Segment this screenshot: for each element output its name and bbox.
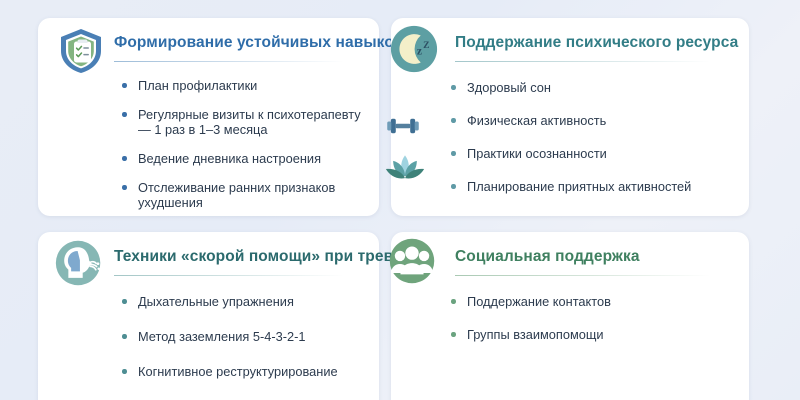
list-item-label: Поддержание контактов <box>467 294 611 309</box>
moon-sleep-icon: z Z <box>389 24 441 76</box>
card-title: Техники «скорой помощи» при тревоге <box>114 248 418 266</box>
list-item-label: Планирование приятных активностей <box>467 179 691 194</box>
head-breathing-icon <box>54 238 108 292</box>
list-item-label: План профилактики <box>138 78 257 93</box>
list-item-label: Дыхательные упражнения <box>138 294 294 309</box>
bullet-dot <box>451 332 456 337</box>
dumbbell-icon <box>385 111 421 141</box>
card-social-support[interactable]: Социальная поддержка Поддержание контакт… <box>391 232 749 400</box>
bullet-list: План профилактики Регулярные визиты к пс… <box>122 78 365 224</box>
list-item: Дыхательные упражнения <box>122 294 365 309</box>
card-skills[interactable]: Формирование устойчивых навыков План про… <box>38 18 379 216</box>
bullet-dot <box>122 83 127 88</box>
card-title: Социальная поддержка <box>455 248 640 266</box>
people-group-icon <box>387 236 441 290</box>
card-header: z Z Поддержание психического ресурса <box>391 18 749 74</box>
card-mental-resource[interactable]: z Z Поддержание психического ресурса <box>391 18 749 216</box>
card-emergency-techniques[interactable]: Техники «скорой помощи» при тревоге Дыха… <box>38 232 379 400</box>
card-title: Поддержание психического ресурса <box>455 34 738 52</box>
list-item-label: Группы взаимопомощи <box>467 327 604 342</box>
list-item-label: Ведение дневника настроения <box>138 151 321 166</box>
title-divider <box>455 61 710 62</box>
list-item: Регулярные визиты к психотерапевту — 1 р… <box>122 107 365 137</box>
list-item: План профилактики <box>122 78 365 93</box>
title-divider <box>114 61 344 62</box>
card-header: Техники «скорой помощи» при тревоге <box>38 232 379 288</box>
list-item: Практики осознанности <box>451 146 735 161</box>
bullet-dot <box>451 184 456 189</box>
bullet-dot <box>122 299 127 304</box>
bullet-list: Дыхательные упражнения Метод заземления … <box>122 294 365 399</box>
list-item: Поддержание контактов <box>451 294 735 309</box>
title-divider <box>455 275 710 276</box>
bullet-dot <box>451 85 456 90</box>
list-item-label: Отслеживание ранних признаков ухудшения <box>138 180 335 210</box>
bullet-dot <box>122 112 127 117</box>
bullet-dot <box>451 151 456 156</box>
list-item-label: Здоровый сон <box>467 80 551 95</box>
list-item: Ведение дневника настроения <box>122 151 365 166</box>
list-item: Когнитивное реструктурирование <box>122 364 365 379</box>
list-item: Физическая активность <box>451 113 735 128</box>
list-item-label: Метод заземления 5-4-3-2-1 <box>138 329 305 344</box>
shield-checklist-icon <box>56 26 106 76</box>
bullet-dot <box>122 334 127 339</box>
list-item: Метод заземления 5-4-3-2-1 <box>122 329 365 344</box>
bullet-dot <box>122 369 127 374</box>
title-divider <box>114 275 344 276</box>
list-item-label: Физическая активность <box>467 113 606 128</box>
list-item: Отслеживание ранних признаков ухудшения <box>122 180 365 210</box>
card-header: Формирование устойчивых навыков <box>38 18 379 74</box>
list-item-label: Когнитивное реструктурирование <box>138 364 338 379</box>
card-header: Социальная поддержка <box>391 232 749 288</box>
list-item: Планирование приятных активностей <box>451 179 735 194</box>
bullet-list: Здоровый сон Физическая активность Практ… <box>451 80 735 212</box>
svg-text:Z: Z <box>423 40 429 51</box>
card-title: Формирование устойчивых навыков <box>114 34 404 52</box>
list-item: Группы взаимопомощи <box>451 327 735 342</box>
card-board: Формирование устойчивых навыков План про… <box>0 0 800 400</box>
bullet-dot <box>122 185 127 190</box>
list-item-label: Регулярные визиты к психотерапевту — 1 р… <box>138 107 361 137</box>
list-item-label: Практики осознанности <box>467 146 607 161</box>
bullet-dot <box>451 299 456 304</box>
bullet-dot <box>122 156 127 161</box>
bullet-list: Поддержание контактов Группы взаимопомощ… <box>451 294 735 360</box>
svg-text:z: z <box>417 45 422 57</box>
bullet-dot <box>451 118 456 123</box>
list-item: Здоровый сон <box>451 80 735 95</box>
lotus-icon <box>385 151 425 187</box>
